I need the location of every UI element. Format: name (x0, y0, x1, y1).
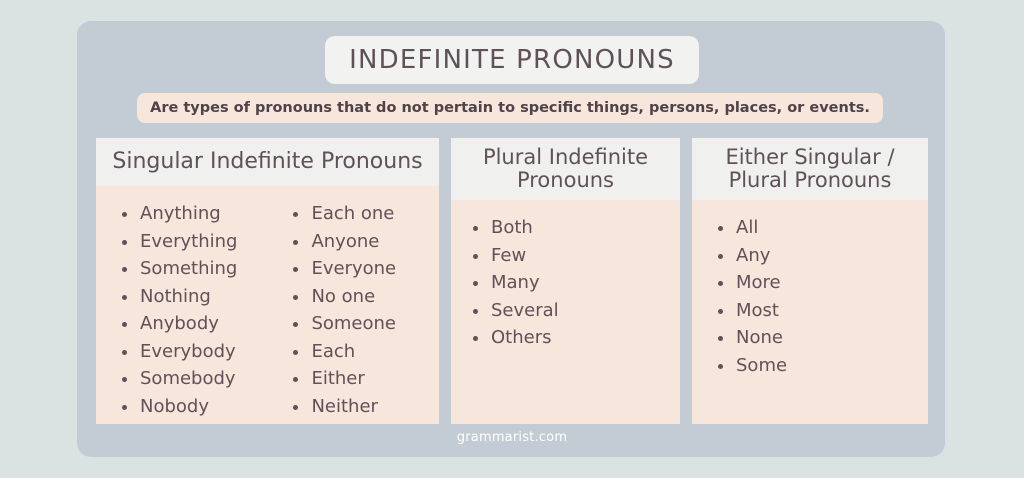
column-singular-indefinite-pronouns: Singular Indefinite Pronouns Anything Ev… (96, 138, 439, 424)
list-item: Everything (118, 228, 237, 256)
list-item: Somebody (118, 365, 237, 393)
list-item: Nobody (118, 393, 237, 421)
column-body: All Any More Most None Some (692, 200, 928, 379)
column-header: Either Singular / Plural Pronouns (692, 138, 928, 200)
list-item: Everyone (289, 255, 396, 283)
column-header-label: Singular Indefinite Pronouns (112, 150, 422, 174)
page-title: INDEFINITE PRONOUNS (349, 45, 675, 75)
column-header-label: Plural Indefinite Pronouns (483, 146, 648, 191)
list-item: Anyone (289, 228, 396, 256)
sub-column-left: All Any More Most None Some (714, 214, 787, 379)
title-pill: INDEFINITE PRONOUNS (325, 36, 699, 84)
list-item: Something (118, 255, 237, 283)
page-subtitle: Are types of pronouns that do not pertai… (150, 100, 870, 116)
pronoun-list: Anything Everything Something Nothing An… (118, 200, 237, 420)
infographic-root: INDEFINITE PRONOUNS Are types of pronoun… (0, 0, 1024, 478)
list-item: Both (469, 214, 559, 242)
list-item: No one (289, 283, 396, 311)
column-body: Both Few Many Several Others (451, 200, 680, 352)
list-item: Any (714, 242, 787, 270)
sub-column-left: Anything Everything Something Nothing An… (118, 200, 237, 420)
list-item: Nothing (118, 283, 237, 311)
column-body: Anything Everything Something Nothing An… (96, 186, 439, 420)
list-item: Everybody (118, 338, 237, 366)
list-item: All (714, 214, 787, 242)
footer-watermark: grammarist.com (0, 430, 1024, 445)
list-item: Few (469, 242, 559, 270)
column-header: Plural Indefinite Pronouns (451, 138, 680, 200)
column-either-singular-plural-pronouns: Either Singular / Plural Pronouns All An… (692, 138, 928, 424)
list-item: More (714, 269, 787, 297)
column-plural-indefinite-pronouns: Plural Indefinite Pronouns Both Few Many… (451, 138, 680, 424)
list-item: Each one (289, 200, 396, 228)
sub-column-left: Both Few Many Several Others (469, 214, 559, 352)
pronoun-list: All Any More Most None Some (714, 214, 787, 379)
pronoun-list: Both Few Many Several Others (469, 214, 559, 352)
list-item: Neither (289, 393, 396, 421)
list-item: Others (469, 324, 559, 352)
column-header-label: Either Singular / Plural Pronouns (725, 146, 894, 191)
list-item: Someone (289, 310, 396, 338)
list-item: Anybody (118, 310, 237, 338)
column-header: Singular Indefinite Pronouns (96, 138, 439, 186)
list-item: None (714, 324, 787, 352)
sub-column-right: Each one Anyone Everyone No one Someone … (289, 200, 396, 420)
list-item: Anything (118, 200, 237, 228)
list-item: Several (469, 297, 559, 325)
subtitle-pill: Are types of pronouns that do not pertai… (137, 93, 883, 123)
list-item: Some (714, 352, 787, 380)
pronoun-list: Each one Anyone Everyone No one Someone … (289, 200, 396, 420)
list-item: Each (289, 338, 396, 366)
list-item: Many (469, 269, 559, 297)
list-item: Either (289, 365, 396, 393)
list-item: Most (714, 297, 787, 325)
